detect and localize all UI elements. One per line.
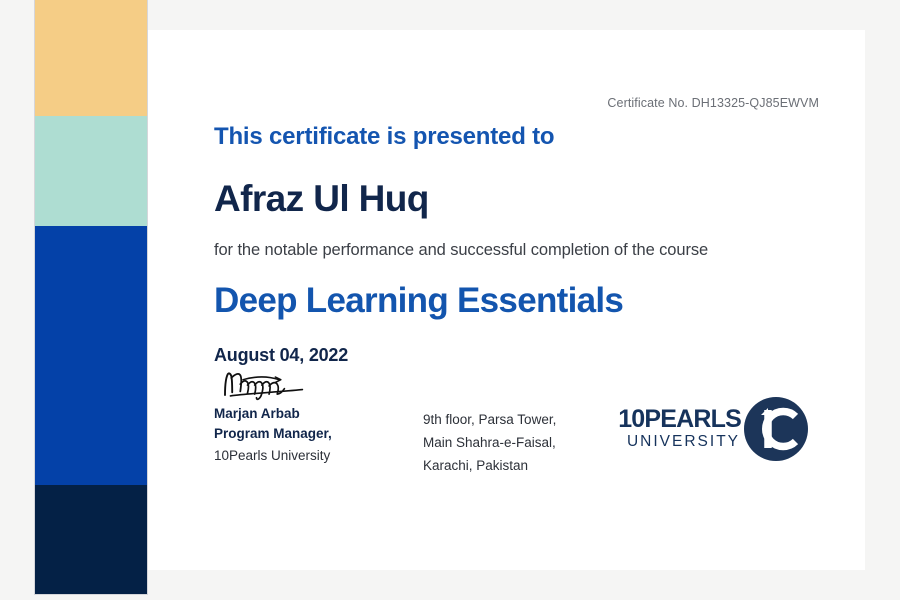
address-line: 9th floor, Parsa Tower, xyxy=(423,408,613,431)
address-block: 9th floor, Parsa Tower, Main Shahra-e-Fa… xyxy=(423,408,613,478)
brand-logo: 10PEARLS UNIVERSITY xyxy=(618,396,809,462)
ten-circle-badge-icon xyxy=(743,396,809,462)
logo-name: 10PEARLS xyxy=(618,407,741,432)
signer-title: Program Manager, xyxy=(214,424,404,444)
logo-wordmark: 10PEARLS UNIVERSITY xyxy=(618,407,741,451)
issue-date: August 04, 2022 xyxy=(214,345,825,366)
signer-name: Marjan Arbab xyxy=(214,404,404,424)
stripe-band-navy xyxy=(35,485,147,594)
achievement-line: for the notable performance and successf… xyxy=(214,241,825,261)
stripe-band-amber xyxy=(35,0,147,116)
presented-to-heading: This certificate is presented to xyxy=(214,124,825,150)
course-title: Deep Learning Essentials xyxy=(214,283,825,320)
certificate-body: This certificate is presented to Afraz U… xyxy=(214,124,825,366)
logo-subtitle: UNIVERSITY xyxy=(627,432,740,451)
handwritten-signature-icon xyxy=(214,368,326,404)
address-line: Karachi, Pakistan xyxy=(423,454,613,477)
certificate-number: Certificate No. DH13325-QJ85EWVM xyxy=(607,96,819,110)
address-line: Main Shahra-e-Faisal, xyxy=(423,431,613,454)
certificate-card: Certificate No. DH13325-QJ85EWVM This ce… xyxy=(148,30,865,570)
recipient-name: Afraz Ul Huq xyxy=(214,180,825,219)
signer-org: 10Pearls University xyxy=(214,446,404,466)
certificate-page: Certificate No. DH13325-QJ85EWVM This ce… xyxy=(0,0,900,600)
color-stripe xyxy=(35,0,147,594)
stripe-band-mint xyxy=(35,116,147,226)
certificate-footer: Marjan Arbab Program Manager, 10Pearls U… xyxy=(214,368,835,488)
stripe-band-blue xyxy=(35,226,147,485)
signature-block: Marjan Arbab Program Manager, 10Pearls U… xyxy=(214,368,404,466)
